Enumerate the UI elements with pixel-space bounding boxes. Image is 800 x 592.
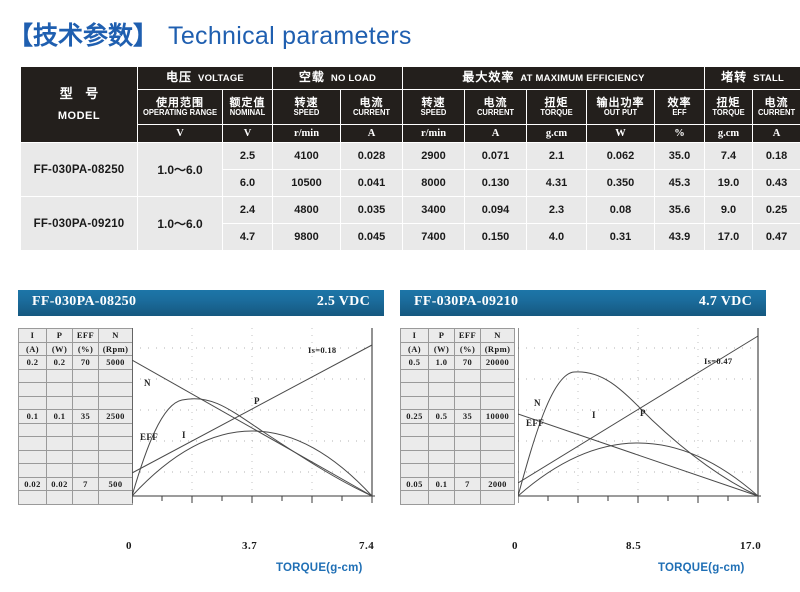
header-group-row: 型 号 MODEL 电压VOLTAGE 空载NO LOAD 最大效率AT MAX…: [21, 67, 800, 90]
xtick-mid-left: 3.7: [242, 540, 257, 552]
cell-maxeff-eff: 43.9: [655, 224, 705, 251]
subheader-stall-current: 电流 CURRENT: [753, 90, 800, 125]
header-group-stall: 堵转STALL: [705, 67, 800, 90]
curve-label-n: N: [144, 378, 151, 388]
axis-bottom-eff: 7: [455, 477, 481, 491]
axis-bottom-p: 0.1: [429, 477, 455, 491]
axis-mid-p: 0.5: [429, 410, 455, 424]
axis-mid-eff: 35: [73, 410, 99, 424]
cell-nominal: 2.4: [223, 197, 273, 224]
axis-row-bottom: 0.05 0.1 7 2000: [401, 477, 515, 491]
axis-row-blank: ....: [19, 396, 133, 410]
subheader-stall-torque: 扭矩 TORQUE: [705, 90, 753, 125]
axis-header-symbols: I P EFF N: [19, 329, 133, 343]
cell-noload-current: 0.028: [341, 143, 403, 170]
unit-noload-speed: r/min: [273, 125, 341, 143]
axis-header-symbols: I P EFF N: [401, 329, 515, 343]
subheader-maxeff-speed: 转速 SPEED: [403, 90, 465, 125]
chart-body-left: I P EFF N (A) (W) (%) (Rpm) 0.2 0.2 70 5…: [18, 328, 384, 568]
cell-model: FF-030PA-08250: [21, 143, 138, 197]
subheader-noload-current: 电流 CURRENT: [341, 90, 403, 125]
cell-noload-current: 0.035: [341, 197, 403, 224]
cell-stall-torque: 9.0: [705, 197, 753, 224]
cell-maxeff-current: 0.130: [465, 170, 527, 197]
axis-row-top: 0.2 0.2 70 5000: [19, 356, 133, 370]
axis-bottom-i: 0.02: [19, 477, 47, 491]
cell-maxeff-speed: 2900: [403, 143, 465, 170]
axis-row-blank: ....: [19, 437, 133, 451]
curve-label-p: P: [254, 396, 260, 406]
axis-row-mid: 0.1 0.1 35 2500: [19, 410, 133, 424]
page-title: 【技术参数】Technical parameters: [8, 16, 412, 52]
chart-voltage-label: 4.7 VDC: [699, 294, 752, 310]
chart-model-label: FF-030PA-08250: [32, 294, 136, 310]
subheader-noload-speed: 转速 SPEED: [273, 90, 341, 125]
chart-header-left: FF-030PA-08250 2.5 VDC: [18, 290, 384, 316]
xtick-0-left: 0: [126, 540, 132, 552]
subheader-maxeff-output: 输出功率 OUT PUT: [587, 90, 655, 125]
xtick-max-right: 17.0: [740, 540, 761, 552]
xtick-mid-right: 8.5: [626, 540, 641, 552]
axis-sym-p: P: [429, 329, 455, 343]
axis-sym-p: P: [47, 329, 73, 343]
cell-maxeff-current: 0.071: [465, 143, 527, 170]
axis-row-mid: 0.25 0.5 35 10000: [401, 410, 515, 424]
cell-maxeff-eff: 35.6: [655, 197, 705, 224]
cell-maxeff-eff: 45.3: [655, 170, 705, 197]
cell-stall-torque: 7.4: [705, 143, 753, 170]
cell-maxeff-speed: 3400: [403, 197, 465, 224]
specification-table: 型 号 MODEL 电压VOLTAGE 空载NO LOAD 最大效率AT MAX…: [20, 66, 800, 251]
cell-maxeff-current: 0.150: [465, 224, 527, 251]
axis-value-table-right: I P EFF N (A) (W) (%) (Rpm) 0.5 1.0 70 2…: [400, 328, 515, 505]
subheader-operating-range: 使用范围 OPERATING RANGE: [138, 90, 223, 125]
axis-row-blank: ....: [401, 423, 515, 437]
cell-noload-current: 0.045: [341, 224, 403, 251]
header-unit-row: V V r/min A r/min A g.cm W % g.cm A: [21, 125, 800, 143]
curve-p: [518, 443, 758, 496]
curve-label-eff: EFF: [140, 432, 158, 442]
axis-bottom-i: 0.05: [401, 477, 429, 491]
cell-nominal: 6.0: [223, 170, 273, 197]
axis-row-blank: ....: [19, 491, 133, 505]
x-axis-ticks: [518, 496, 758, 503]
cell-operating-range: 1.0～6.0: [138, 143, 223, 197]
table-row: FF-030PA-09210 1.0～6.0 2.4 4800 0.035 34…: [21, 197, 800, 224]
subheader-maxeff-current: 电流 CURRENT: [465, 90, 527, 125]
header-model-en: MODEL: [21, 108, 137, 125]
plot-area-left: N EFF I P Is=0.18: [132, 328, 380, 513]
table-body: FF-030PA-08250 1.0～6.0 2.5 4100 0.028 29…: [21, 143, 800, 251]
axis-sym-i: I: [401, 329, 429, 343]
header-group-noload: 空载NO LOAD: [273, 67, 403, 90]
axis-row-blank: ....: [19, 423, 133, 437]
curve-label-i: I: [592, 410, 596, 420]
unit-stall-torque: g.cm: [705, 125, 753, 143]
axis-unit-p: (W): [429, 342, 455, 356]
axis-row-blank: ....: [401, 437, 515, 451]
axis-mid-n: 10000: [481, 410, 515, 424]
subheader-maxeff-torque: 扭矩 TORQUE: [527, 90, 587, 125]
cell-stall-current: 0.43: [753, 170, 800, 197]
table-row: FF-030PA-08250 1.0～6.0 2.5 4100 0.028 29…: [21, 143, 800, 170]
axis-mid-n: 2500: [99, 410, 133, 424]
page-title-en: Technical parameters: [168, 22, 412, 50]
table-header: 型 号 MODEL 电压VOLTAGE 空载NO LOAD 最大效率AT MAX…: [21, 67, 800, 143]
cell-maxeff-output: 0.31: [587, 224, 655, 251]
axis-row-blank: ....: [401, 369, 515, 383]
axis-bottom-p: 0.02: [47, 477, 73, 491]
axis-sym-eff: EFF: [455, 329, 481, 343]
axis-top-i: 0.2: [19, 356, 47, 370]
axis-unit-i: (A): [19, 342, 47, 356]
x-axis-title-left: TORQUE(g-cm): [276, 562, 363, 574]
axis-top-eff: 70: [455, 356, 481, 370]
axis-mid-eff: 35: [455, 410, 481, 424]
axis-top-n: 20000: [481, 356, 515, 370]
header-model-cn: 型 号: [21, 85, 137, 105]
xtick-0-right: 0: [512, 540, 518, 552]
x-axis-title-right: TORQUE(g-cm): [658, 562, 745, 574]
unit-maxeff-speed: r/min: [403, 125, 465, 143]
axis-sym-n: N: [481, 329, 515, 343]
axis-top-p: 1.0: [429, 356, 455, 370]
cell-noload-speed: 4800: [273, 197, 341, 224]
header-group-max-efficiency: 最大效率AT MAXIMUM EFFICIENCY: [403, 67, 705, 90]
cell-stall-torque: 19.0: [705, 170, 753, 197]
cell-maxeff-torque: 4.31: [527, 170, 587, 197]
header-model: 型 号 MODEL: [21, 67, 138, 143]
curve-label-i: I: [182, 430, 186, 440]
unit-maxeff-current: A: [465, 125, 527, 143]
curve-label-p: P: [640, 408, 646, 418]
x-axis-ticks: [132, 496, 372, 503]
header-group-voltage: 电压VOLTAGE: [138, 67, 273, 90]
cell-operating-range: 1.0～6.0: [138, 197, 223, 251]
axis-header-units: (A) (W) (%) (Rpm): [19, 342, 133, 356]
page-title-cn: 【技术参数】: [8, 21, 158, 50]
axis-top-eff: 70: [73, 356, 99, 370]
axis-row-top: 0.5 1.0 70 20000: [401, 356, 515, 370]
cell-maxeff-speed: 8000: [403, 170, 465, 197]
unit-maxeff-eff: %: [655, 125, 705, 143]
stall-current-annotation: Is=0.18: [308, 345, 336, 355]
axis-row-bottom: 0.02 0.02 7 500: [19, 477, 133, 491]
cell-noload-speed: 10500: [273, 170, 341, 197]
cell-maxeff-output: 0.08: [587, 197, 655, 224]
axis-sym-n: N: [99, 329, 133, 343]
plot-area-right: N EFF I P Is=0.47: [518, 328, 766, 513]
cell-stall-current: 0.47: [753, 224, 800, 251]
cell-noload-current: 0.041: [341, 170, 403, 197]
axis-row-blank: ....: [401, 464, 515, 478]
cell-noload-speed: 9800: [273, 224, 341, 251]
cell-nominal: 2.5: [223, 143, 273, 170]
unit-maxeff-torque: g.cm: [527, 125, 587, 143]
chart-model-label: FF-030PA-09210: [414, 294, 518, 310]
unit-nominal: V: [223, 125, 273, 143]
axis-unit-n: (Rpm): [481, 342, 515, 356]
header-sub-row: 使用范围 OPERATING RANGE 额定值 NOMINAL 转速 SPEE…: [21, 90, 800, 125]
cell-maxeff-torque: 2.1: [527, 143, 587, 170]
axis-unit-eff: (%): [73, 342, 99, 356]
chart-body-right: I P EFF N (A) (W) (%) (Rpm) 0.5 1.0 70 2…: [400, 328, 766, 568]
axis-unit-eff: (%): [455, 342, 481, 356]
subheader-nominal: 额定值 NOMINAL: [223, 90, 273, 125]
cell-maxeff-torque: 4.0: [527, 224, 587, 251]
grid-lines-vertical: [192, 328, 312, 496]
axis-header-units: (A) (W) (%) (Rpm): [401, 342, 515, 356]
unit-stall-current: A: [753, 125, 800, 143]
curve-label-n: N: [534, 398, 541, 408]
stall-current-annotation: Is=0.47: [704, 356, 733, 366]
performance-chart-09210: FF-030PA-09210 4.7 VDC I P EFF N (A) (W)…: [400, 290, 766, 568]
axis-mid-p: 0.1: [47, 410, 73, 424]
axis-unit-p: (W): [47, 342, 73, 356]
cell-stall-current: 0.18: [753, 143, 800, 170]
axis-mid-i: 0.25: [401, 410, 429, 424]
xtick-max-left: 7.4: [359, 540, 374, 552]
chart-voltage-label: 2.5 VDC: [317, 294, 370, 310]
cell-maxeff-output: 0.350: [587, 170, 655, 197]
cell-maxeff-torque: 2.3: [527, 197, 587, 224]
axis-bottom-eff: 7: [73, 477, 99, 491]
unit-noload-current: A: [341, 125, 403, 143]
performance-chart-08250: FF-030PA-08250 2.5 VDC I P EFF N (A) (W)…: [18, 290, 384, 568]
axis-top-n: 5000: [99, 356, 133, 370]
axis-top-p: 0.2: [47, 356, 73, 370]
axis-top-i: 0.5: [401, 356, 429, 370]
cell-maxeff-output: 0.062: [587, 143, 655, 170]
axis-sym-eff: EFF: [73, 329, 99, 343]
axis-bottom-n: 2000: [481, 477, 515, 491]
unit-operating-range: V: [138, 125, 223, 143]
axis-row-blank: ....: [401, 383, 515, 397]
axis-sym-i: I: [19, 329, 47, 343]
axis-row-blank: ....: [19, 464, 133, 478]
chart-header-right: FF-030PA-09210 4.7 VDC: [400, 290, 766, 316]
axis-bottom-n: 500: [99, 477, 133, 491]
cell-stall-torque: 17.0: [705, 224, 753, 251]
axis-mid-i: 0.1: [19, 410, 47, 424]
axis-row-blank: ....: [401, 491, 515, 505]
cell-noload-speed: 4100: [273, 143, 341, 170]
cell-stall-current: 0.25: [753, 197, 800, 224]
cell-nominal: 4.7: [223, 224, 273, 251]
axis-row-blank: ....: [19, 369, 133, 383]
grid-lines-vertical: [578, 328, 698, 496]
curve-label-eff: EFF: [526, 418, 544, 428]
axis-value-table-left: I P EFF N (A) (W) (%) (Rpm) 0.2 0.2 70 5…: [18, 328, 133, 505]
axis-row-blank: ....: [19, 450, 133, 464]
axis-unit-i: (A): [401, 342, 429, 356]
cell-maxeff-current: 0.094: [465, 197, 527, 224]
axis-unit-n: (Rpm): [99, 342, 133, 356]
cell-maxeff-eff: 35.0: [655, 143, 705, 170]
cell-maxeff-speed: 7400: [403, 224, 465, 251]
axis-row-blank: ....: [401, 396, 515, 410]
subheader-maxeff-eff: 效率 EFF: [655, 90, 705, 125]
cell-model: FF-030PA-09210: [21, 197, 138, 251]
unit-maxeff-output: W: [587, 125, 655, 143]
axis-row-blank: ....: [401, 450, 515, 464]
axis-row-blank: ....: [19, 383, 133, 397]
